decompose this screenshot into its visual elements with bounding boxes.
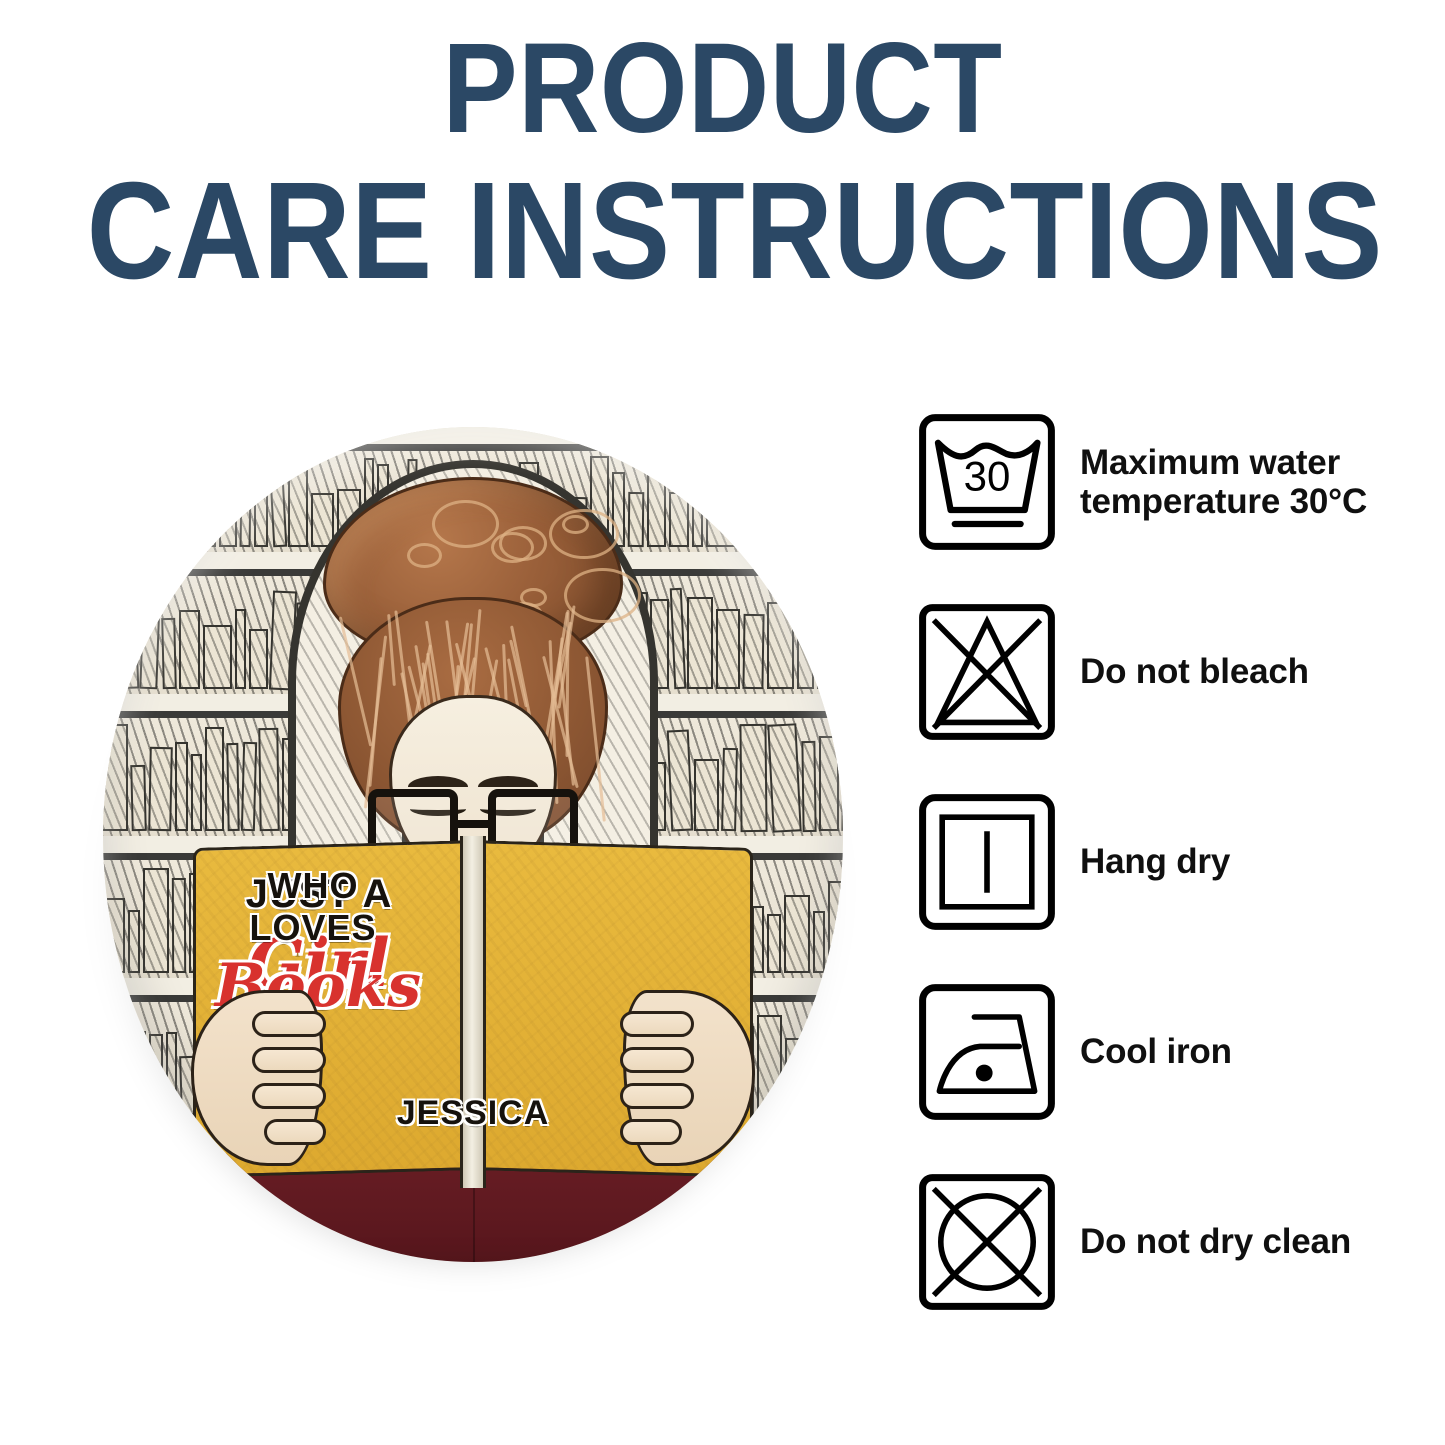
eyebrow-left — [408, 776, 468, 787]
shelf-book — [166, 1032, 177, 1115]
shelf-book — [164, 497, 192, 547]
shelf-book — [149, 1034, 163, 1116]
shelf-book — [813, 911, 825, 973]
shelf-book — [259, 728, 280, 831]
title-line-product: PRODUCT — [87, 28, 1359, 151]
care-symbol-list: 30 Maximum watertemperature 30°C Do not … — [916, 412, 1416, 1312]
shelf-book — [716, 609, 740, 689]
hair-swirl — [499, 526, 547, 561]
care-row-wash: 30 Maximum watertemperature 30°C — [916, 412, 1416, 552]
shelf-book — [203, 625, 232, 690]
shelf-book — [740, 723, 768, 831]
shelf-book — [140, 594, 161, 690]
book-text-loves: LOVES — [193, 910, 433, 946]
shelf-book — [103, 724, 128, 832]
shelf-book — [842, 739, 843, 831]
shelf-book — [670, 588, 687, 689]
shelf-book — [840, 583, 843, 689]
shelf-book — [103, 619, 109, 690]
shelf-book — [235, 609, 246, 689]
hair-swirl — [432, 500, 498, 548]
hair-swirl — [549, 509, 619, 559]
glasses-bridge — [458, 820, 487, 828]
shelf-book — [784, 895, 810, 973]
title-line-care-instructions: CARE INSTRUCTIONS — [87, 165, 1359, 297]
shelf-book — [110, 473, 131, 548]
shelf-book — [133, 494, 161, 547]
shelf-book — [825, 482, 838, 548]
shelf-book — [103, 1028, 125, 1115]
shelf-book — [767, 914, 781, 973]
shelf-book — [131, 765, 147, 831]
book-spine — [460, 836, 486, 1188]
hair-strand — [339, 616, 373, 746]
do-not-bleach-icon — [916, 602, 1058, 742]
shelf-book — [205, 727, 224, 831]
care-label-iron: Cool iron — [1080, 1032, 1232, 1071]
shelf-book — [768, 723, 802, 832]
wash-30-icon: 30 — [916, 412, 1058, 552]
care-instructions-page: PRODUCT CARE INSTRUCTIONS — [0, 0, 1445, 1445]
shelf-book — [103, 898, 125, 973]
shelf-book — [240, 486, 252, 547]
shelf-book — [249, 629, 268, 689]
shelf-book — [128, 1031, 146, 1115]
shelf-book — [667, 730, 694, 832]
hair-strand — [585, 656, 606, 821]
shelf-book — [721, 748, 738, 831]
shelf-book — [179, 610, 200, 689]
shelf-book — [782, 494, 802, 547]
care-row-bleach: Do not bleach — [916, 602, 1416, 742]
do-not-dry-clean-icon — [916, 1172, 1058, 1312]
hair-swirl — [407, 543, 442, 568]
wash-temperature-value: 30 — [964, 452, 1011, 499]
shelf-book — [692, 475, 703, 547]
shelf-book — [143, 868, 169, 973]
shelf-book — [254, 456, 268, 547]
care-row-dry: Hang dry — [916, 792, 1416, 932]
shelf-book — [172, 878, 186, 973]
shelf-book — [752, 906, 764, 973]
shelf-book — [814, 1029, 834, 1115]
shelf-book — [802, 740, 817, 831]
cool-iron-icon — [916, 982, 1058, 1122]
shelf-book — [162, 618, 178, 690]
shelf-book — [738, 492, 755, 547]
shelf-book — [669, 492, 689, 547]
shelf-book — [109, 620, 140, 690]
shelf-book — [828, 881, 843, 973]
shelf-book — [694, 759, 719, 831]
book-text-who: WHO — [193, 868, 433, 904]
product-image: JUST A Girl WHO LOVES Books JESSICA — [45, 405, 865, 1305]
shelf-book — [817, 607, 837, 690]
care-label-bleach: Do not bleach — [1080, 652, 1309, 691]
care-label-dry-clean: Do not dry clean — [1080, 1222, 1351, 1261]
care-row-dry-clean: Do not dry clean — [916, 1172, 1416, 1312]
shelf-book — [804, 468, 822, 547]
shelf-book — [195, 483, 216, 548]
shelf-book — [175, 742, 188, 831]
hair-strand — [364, 636, 387, 809]
shelf-book — [767, 602, 794, 689]
shelf-book — [269, 460, 288, 548]
shelf-book — [819, 736, 839, 831]
shelf-book — [758, 470, 779, 547]
shelf-book — [128, 910, 140, 973]
page-title: PRODUCT CARE INSTRUCTIONS — [0, 28, 1445, 297]
care-label-wash: Maximum watertemperature 30°C — [1080, 443, 1367, 521]
shelf-book — [797, 592, 814, 689]
hair-strand — [387, 614, 396, 686]
shelf-book — [706, 463, 735, 547]
eyebrow-right — [478, 776, 538, 787]
shelf-book — [841, 469, 843, 547]
shelf-book — [785, 1038, 811, 1115]
shelf-book — [219, 471, 237, 547]
hair-swirl — [564, 568, 641, 623]
hang-dry-icon — [916, 792, 1058, 932]
round-pillow: JUST A Girl WHO LOVES Books JESSICA — [103, 427, 843, 1262]
shelf-book — [837, 1041, 843, 1115]
shelf-book — [227, 743, 240, 832]
shelf-book — [191, 754, 202, 831]
shelf-book — [103, 468, 107, 547]
care-label-dry: Hang dry — [1080, 842, 1230, 881]
care-row-iron: Cool iron — [916, 982, 1416, 1122]
shelf-book — [149, 747, 174, 831]
shelf-book — [241, 742, 257, 832]
shelf-book — [757, 1015, 782, 1115]
shelf-book — [743, 614, 765, 689]
shelf-book — [687, 597, 713, 689]
